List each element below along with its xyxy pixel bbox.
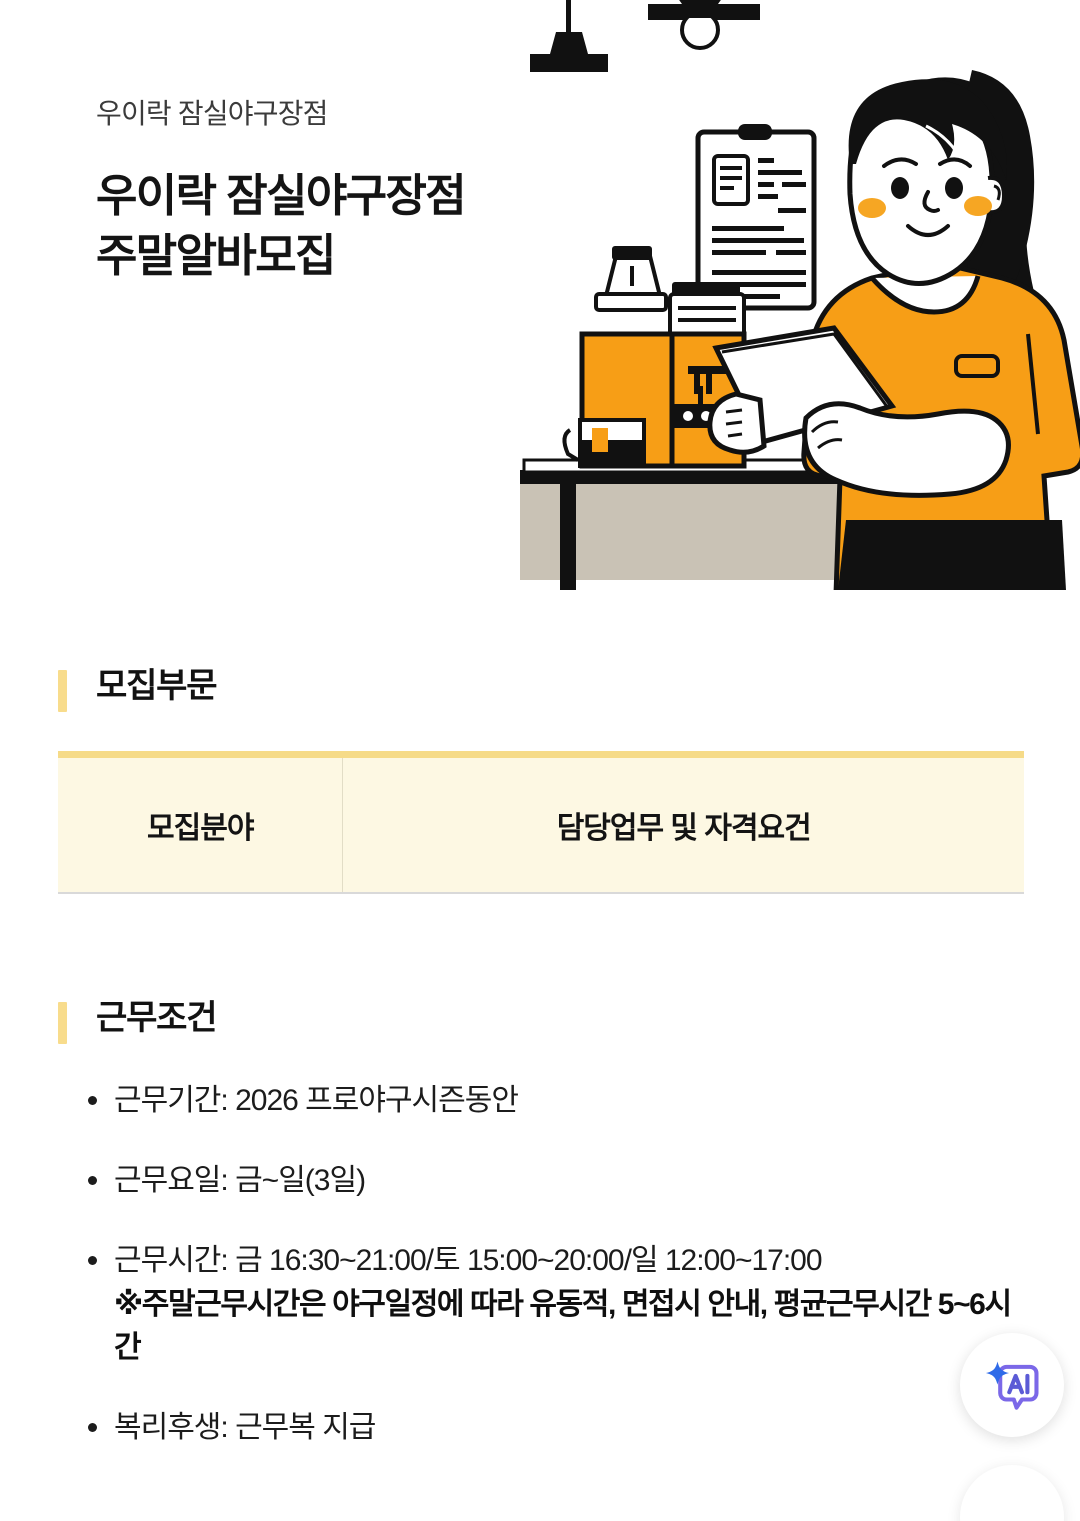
condition-text: 근무시간: 금 16:30~21:00/토 15:00~20:00/일 12:0… [114,1244,822,1277]
list-item: 근무시간: 금 16:30~21:00/토 15:00~20:00/일 12:0… [58,1239,1024,1370]
table-cell-field [58,892,343,893]
section-header-conditions: 근무조건 [96,998,1024,1039]
section-header-recruit: 모집부문 [96,666,1024,707]
floating-secondary-button[interactable] [960,1465,1064,1521]
table-column-header-field: 모집분야 [58,754,343,892]
section-work-conditions: 근무조건 근무기간: 2026 프로야구시즌동안 근무요일: 금~일(3일) 근… [0,998,1080,1450]
clipboard-icon [698,124,814,308]
list-item: 근무기간: 2026 프로야구시즌동안 [58,1079,1024,1123]
page-title-line2: 주말알바모집 [96,230,335,281]
bullet-dot-icon [88,1423,97,1432]
condition-text: 근무기간: 2026 프로야구시즌동안 [114,1084,518,1117]
cafe-staff-illustration [520,0,1080,590]
list-item: 복리후생: 근무복 지급 [58,1406,1024,1450]
bullet-dot-icon [88,1256,97,1265]
ai-assistant-fab[interactable] [960,1333,1064,1437]
job-posting-page: 우이락 잠실야구장점 우이락 잠실야구장점 주말알바모집 [0,0,1080,1521]
condition-text: 근무요일: 금~일(3일) [114,1164,365,1197]
condition-note: ※주말근무시간은 야구일정에 따라 유동적, 면접시 안내, 평균근무시간 5~… [114,1283,1024,1370]
accent-bar-icon [58,670,67,712]
bullet-dot-icon [88,1096,97,1105]
table-cell-duties [343,892,1024,893]
list-item: 근무요일: 금~일(3일) [58,1159,1024,1203]
hero-section: 우이락 잠실야구장점 우이락 잠실야구장점 주말알바모집 [0,0,1080,600]
table-column-header-duties: 담당업무 및 자격요건 [343,754,1024,892]
section-title-conditions: 근무조건 [96,998,216,1039]
conditions-list: 근무기간: 2026 프로야구시즌동안 근무요일: 금~일(3일) 근무시간: … [58,1079,1024,1450]
accent-bar-icon [58,1002,67,1044]
conditions-list-wrapper: 근무기간: 2026 프로야구시즌동안 근무요일: 금~일(3일) 근무시간: … [58,1079,1024,1450]
condition-text: 복리후생: 근무복 지급 [114,1411,375,1444]
page-title: 우이락 잠실야구장점 주말알바모집 [96,166,566,286]
table-header-row: 모집분야 담당업무 및 자격요건 [58,754,1024,892]
hero-text-block: 우이락 잠실야구장점 우이락 잠실야구장점 주말알바모집 [96,96,566,286]
recruit-table-wrapper: 모집분야 담당업무 및 자격요건 [58,751,1024,894]
bullet-dot-icon [88,1176,97,1185]
table-body [58,892,1024,893]
page-title-line1: 우이락 잠실야구장점 [96,170,465,221]
section-recruit-field: 모집부문 모집분야 담당업무 및 자격요건 [0,666,1080,894]
ai-chat-sparkle-icon [983,1356,1041,1414]
store-name-eyebrow: 우이락 잠실야구장점 [96,96,566,132]
table-row [58,892,1024,893]
section-title-recruit: 모집부문 [96,666,216,707]
recruit-table: 모집분야 담당업무 및 자격요건 [58,751,1024,894]
